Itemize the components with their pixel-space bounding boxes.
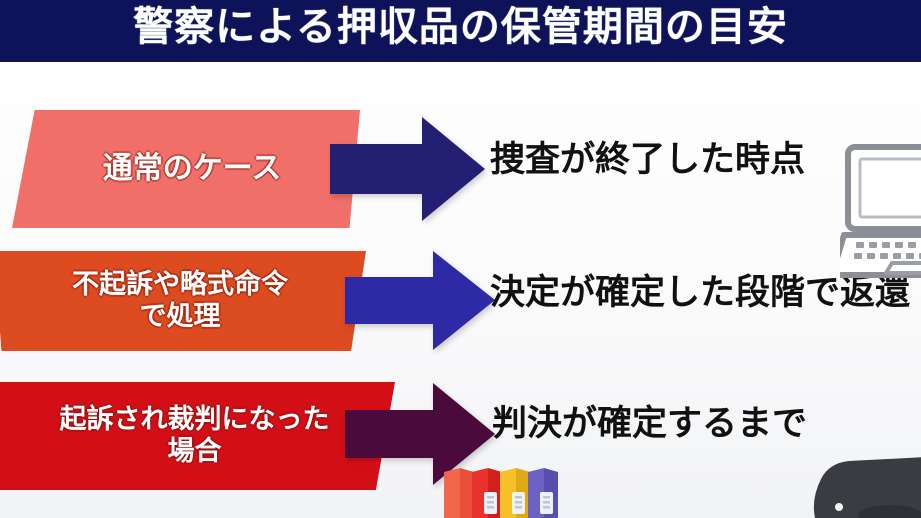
dark-bag-icon [795, 455, 921, 518]
condition-shape-1-fill: 通常のケース [12, 110, 360, 228]
condition-label-2: 不起訴や略式命令 で処理 [72, 269, 288, 333]
arrow-icon-2 [345, 248, 495, 353]
row-non-prosecution-case: 不起訴や略式命令 で処理 決定が確定した段階で返還 [0, 243, 921, 363]
row-normal-case: 通常のケース 捜査が終了した時点 [0, 95, 921, 235]
page-title: 警察による押収品の保管期間の目安 [133, 0, 788, 58]
title-banner: 警察による押収品の保管期間の目安 [0, 0, 921, 62]
arrow-icon-1 [330, 113, 485, 225]
condition-label-1: 通常のケース [103, 151, 282, 186]
binders-icon [440, 466, 570, 518]
condition-shape-2[interactable]: 不起訴や略式命令 で処理 [0, 251, 366, 351]
condition-label-3: 起訴され裁判になった 場合 [60, 404, 330, 468]
condition-shape-2-fill: 不起訴や略式命令 で処理 [0, 251, 366, 351]
result-text-3: 判決が確定するまで [492, 407, 807, 442]
infographic-canvas: 警察による押収品の保管期間の目安 通常のケース 捜査が終了した時点 不起訴や略式… [0, 0, 921, 518]
result-text-1: 捜査が終了した時点 [490, 143, 805, 178]
condition-shape-3[interactable]: 起訴され裁判になった 場合 [0, 382, 395, 490]
condition-shape-3-fill: 起訴され裁判になった 場合 [0, 382, 395, 490]
condition-shape-1[interactable]: 通常のケース [12, 110, 360, 228]
laptop-icon [840, 143, 921, 283]
